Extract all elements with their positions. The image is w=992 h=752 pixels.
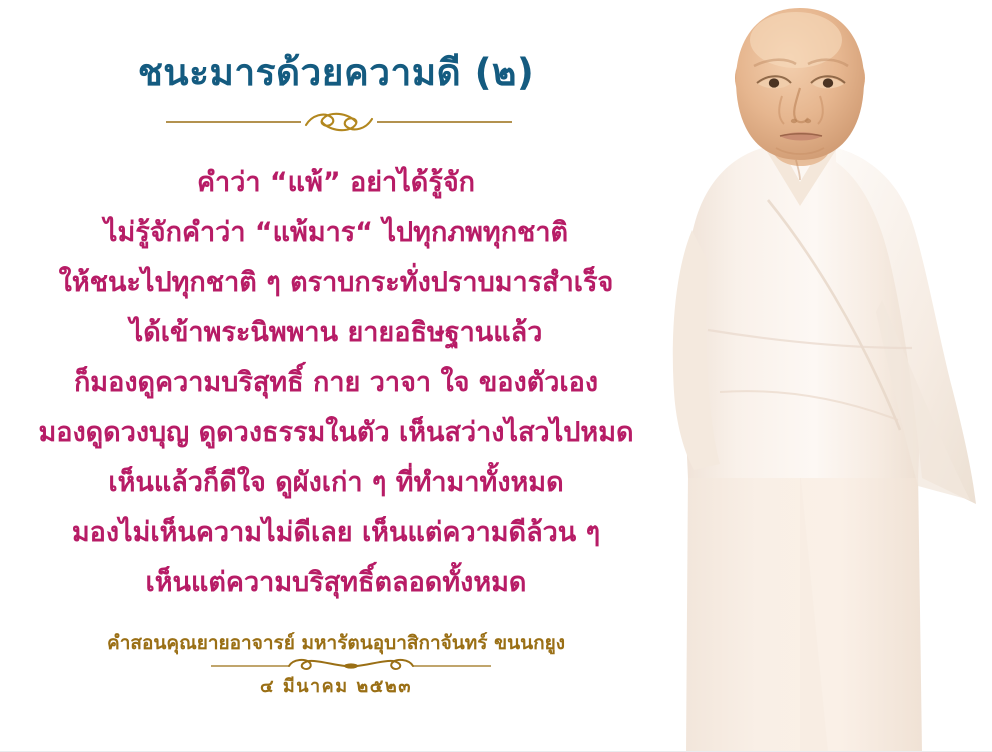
attribution-credit: คำสอนคุณยายอาจารย์ มหารัตนอุบาสิกาจันทร์… bbox=[0, 630, 672, 657]
text-column: ชนะมารด้วยความดี (๒) คำว่า “แพ้” อย่าได้… bbox=[0, 0, 672, 752]
poster-canvas: ชนะมารด้วยความดี (๒) คำว่า “แพ้” อย่าได้… bbox=[0, 0, 992, 752]
verse-block: คำว่า “แพ้” อย่าได้รู้จัก ไม่รู้จักคำว่า… bbox=[0, 158, 672, 608]
verse-line: คำว่า “แพ้” อย่าได้รู้จัก bbox=[0, 158, 672, 208]
verse-line: ก็มองดูความบริสุทธิ์ กาย วาจา ใจ ของตัวเ… bbox=[0, 358, 672, 408]
verse-line: ให้ชนะไปทุกชาติ ๆ ตราบกระทั่งปราบมารสำเร… bbox=[0, 258, 672, 308]
page-title: ชนะมารด้วยความดี (๒) bbox=[0, 50, 672, 96]
flourish-divider-top bbox=[166, 108, 512, 134]
verse-line: ได้เข้าพระนิพพาน ยายอธิษฐานแล้ว bbox=[0, 308, 672, 358]
verse-line: มองไม่เห็นความไม่ดีเลย เห็นแต่ความดีล้วน… bbox=[0, 508, 672, 558]
verse-line: เห็นแต่ความบริสุทธิ์ตลอดทั้งหมด bbox=[0, 558, 672, 608]
portrait-photo-elderly-woman-white-robe bbox=[650, 0, 992, 752]
verse-line: มองดูดวงบุญ ดูดวงธรรมในตัว เห็นสว่างไสวไ… bbox=[0, 408, 672, 458]
verse-line: ไม่รู้จักคำว่า “แพ้มาร“ ไปทุกภพทุกชาติ bbox=[0, 208, 672, 258]
verse-line: เห็นแล้วก็ดีใจ ดูผังเก่า ๆ ที่ทำมาทั้งหม… bbox=[0, 458, 672, 508]
attribution-date: ๔ มีนาคม ๒๕๒๓ bbox=[0, 674, 672, 700]
